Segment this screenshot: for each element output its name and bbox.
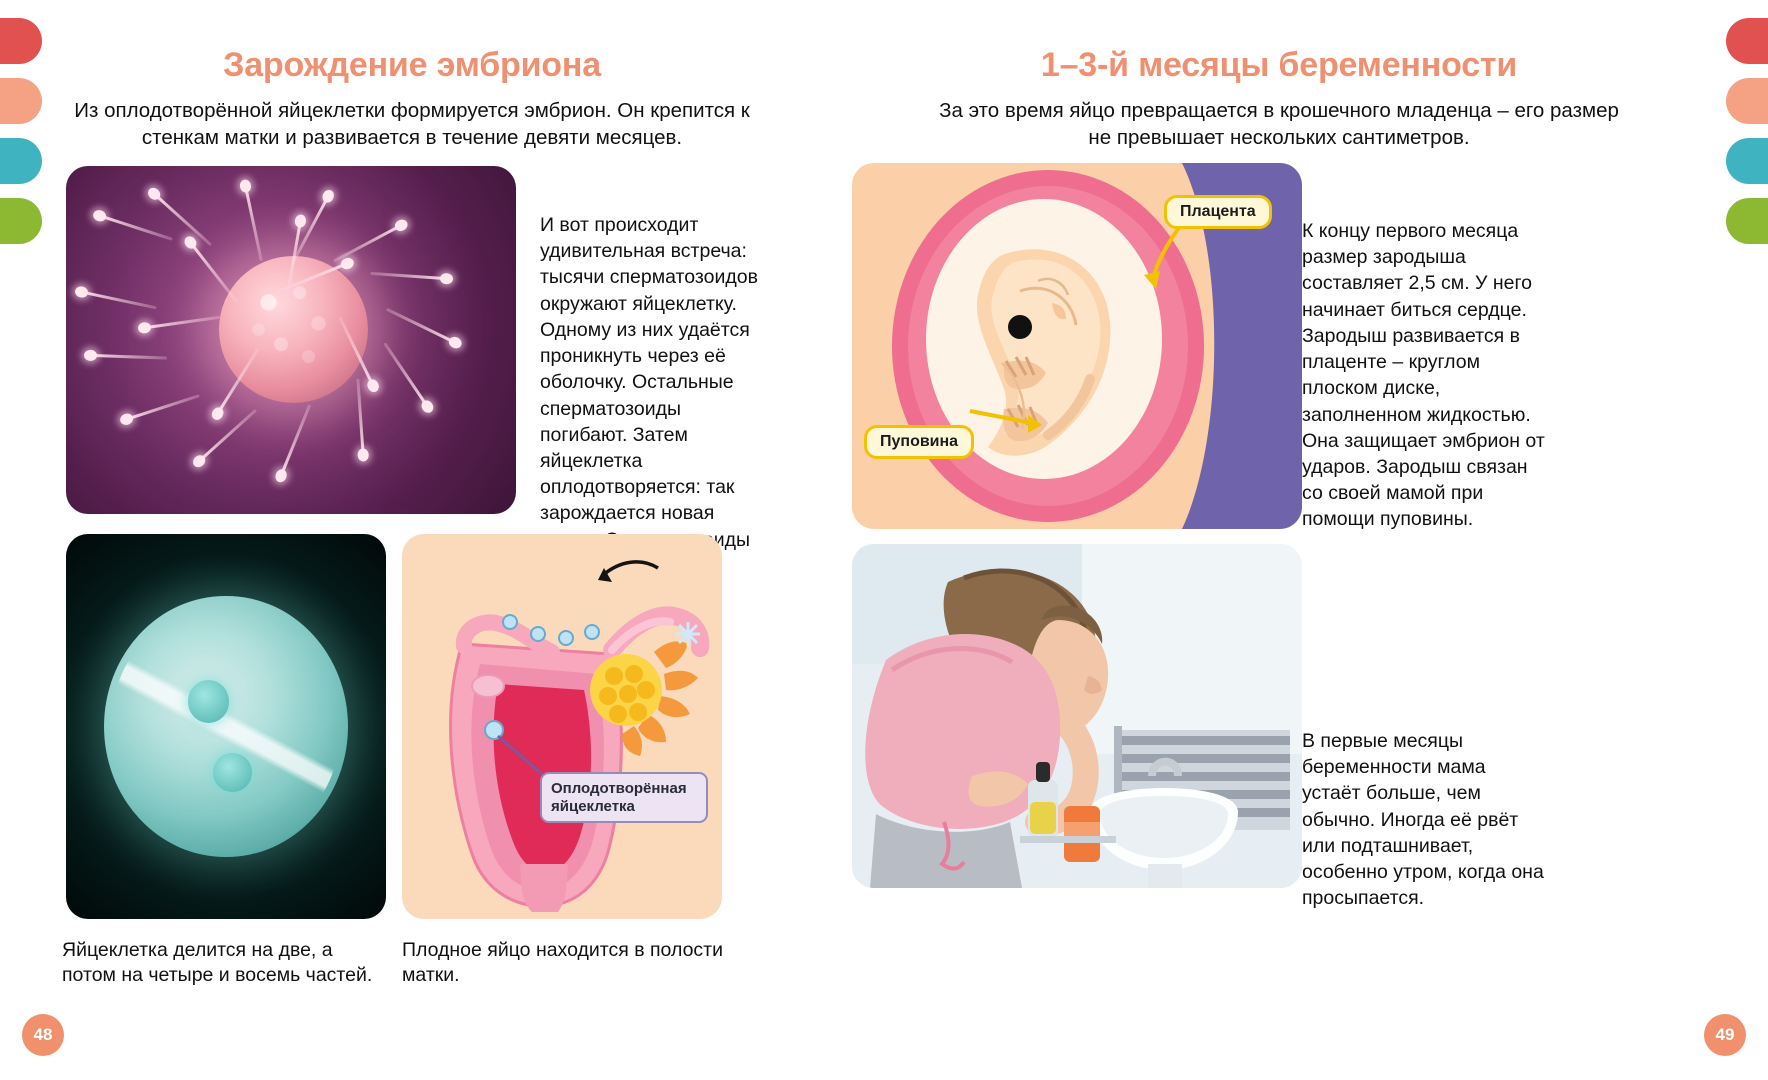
left-header: Зарождение эмбриона Из оплодотворённой я… [62,46,762,151]
intro-text-right: За это время яйцо превращается в крошечн… [934,98,1624,151]
side-tabs-right [1726,18,1768,244]
page-title-right: 1–3-й месяцы беременности [934,46,1624,85]
image-sperm-egg-photo [66,166,516,514]
label-placenta: Плацента [1164,195,1272,229]
side-tab-red [0,18,42,64]
image-nausea-photo [852,544,1302,888]
side-tab-red [1726,18,1768,64]
intro-text-left: Из оплодотворённой яйцеклетки формируетс… [62,98,762,151]
body-text-right-top: К концу первого месяца размер зародыша с… [1302,218,1547,533]
page-number-left: 48 [22,1014,64,1056]
side-tab-teal [0,138,42,184]
page-left: Зарождение эмбриона Из оплодотворённой я… [0,0,884,1080]
caption-uterus: Плодное яйцо находится в полости матки. [402,938,732,988]
image-embryo-diagram: Плацента Пуповина [852,163,1302,529]
right-header: 1–3-й месяцы беременности За это время я… [934,46,1624,151]
side-tab-green [1726,198,1768,244]
page-number-right: 49 [1704,1014,1746,1056]
side-tab-green [0,198,42,244]
image-uterus-diagram: Оплодотворённая яйцеклетка [402,534,722,919]
side-tabs-left [0,18,42,244]
side-tab-salmon [0,78,42,124]
side-tab-teal [1726,138,1768,184]
label-fertilized-egg: Оплодотворённая яйцеклетка [540,772,708,823]
book-spread: Зарождение эмбриона Из оплодотворённой я… [0,0,1768,1080]
body-text-right-bottom: В первые месяцы беременности мама устаёт… [1302,728,1547,912]
image-dividing-cell-photo [66,534,386,919]
page-right: 1–3-й месяцы беременности За это время я… [884,0,1768,1080]
side-tab-salmon [1726,78,1768,124]
label-umbilical-cord: Пуповина [864,425,974,459]
caption-dividing-cell: Яйцеклетка делится на две, а потом на че… [62,938,382,988]
page-title-left: Зарождение эмбриона [62,46,762,85]
